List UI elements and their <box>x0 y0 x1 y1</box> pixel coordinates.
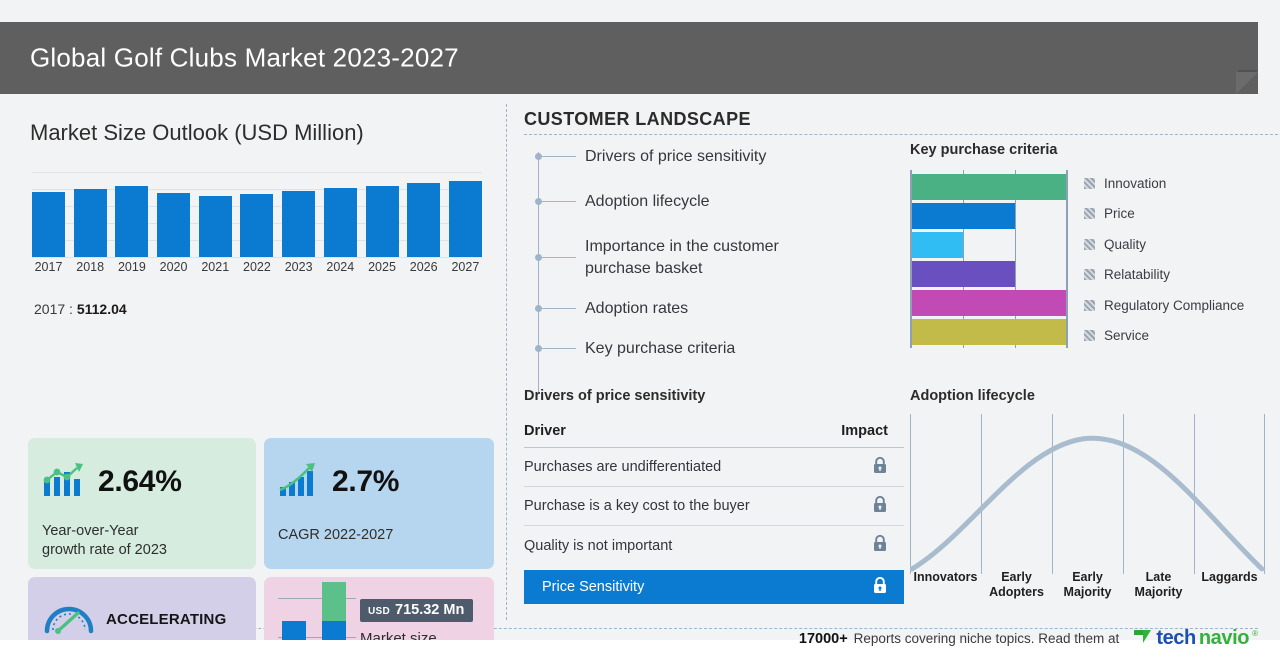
growth-currency: USD <box>368 606 390 617</box>
bar-series <box>32 172 482 257</box>
kpc-plot-area <box>910 170 1068 348</box>
infographic-page: Global Golf Clubs Market 2023-2027 Marke… <box>0 0 1280 670</box>
kpc-legend: InnovationPriceQualityRelatabilityRegula… <box>1084 168 1280 351</box>
adoption-title: Adoption lifecycle <box>910 388 1035 404</box>
market-size-panel: Market Size Outlook (USD Million) 201720… <box>0 94 506 640</box>
hatch-swatch-icon <box>1084 208 1095 219</box>
kpc-legend-label: Relatability <box>1104 267 1170 282</box>
adoption-segment-late-majority: Late Majority <box>1123 570 1194 601</box>
lock-icon <box>872 495 888 518</box>
tree-item-2[interactable]: Importance in the customer purchase bask… <box>538 236 779 279</box>
driver-name: Purchases are undifferentiated <box>524 459 721 475</box>
kpc-legend-item-innovation: Innovation <box>1084 168 1280 199</box>
value-note-year: 2017 : <box>34 301 73 317</box>
kpc-legend-item-price: Price <box>1084 199 1280 230</box>
hatch-swatch-icon <box>1084 330 1095 341</box>
kpc-bar-quality <box>912 232 963 258</box>
kpc-legend-label: Price <box>1104 206 1135 221</box>
bar-chart-x-axis: 2017201820192020202120222023202420252026… <box>32 260 482 274</box>
drivers-table-header: Driver Impact <box>524 423 904 448</box>
kpc-bar-regulatory-compliance <box>912 290 1066 316</box>
technavio-logo[interactable]: tech navio ® <box>1133 627 1258 650</box>
kpi-cagr-top: 2.7% <box>278 460 399 503</box>
bar-2020 <box>157 193 190 257</box>
bar-2017 <box>32 192 65 257</box>
bar-2027 <box>449 181 482 257</box>
kpc-legend-item-regulatory-compliance: Regulatory Compliance <box>1084 290 1280 321</box>
driver-name: Purchase is a key cost to the buyer <box>524 498 750 514</box>
tree-bullet-icon <box>535 198 542 205</box>
tree-connector <box>542 257 576 258</box>
tree-item-label: Adoption lifecycle <box>585 191 710 213</box>
adoption-segment-innovators: Innovators <box>910 570 981 601</box>
key-purchase-criteria-chart: Key purchase criteria InnovationPriceQua… <box>902 142 1280 402</box>
customer-landscape-underline <box>524 134 1278 135</box>
x-label-2027: 2027 <box>449 260 482 274</box>
hatch-swatch-icon <box>1084 300 1095 311</box>
adoption-curve <box>910 414 1265 574</box>
header-bar: Global Golf Clubs Market 2023-2027 <box>0 22 1258 94</box>
tree-bullet-icon <box>535 153 542 160</box>
table-row[interactable]: Quality is not important <box>524 526 904 565</box>
header-fold-corner <box>1236 72 1258 94</box>
cagr-arrow-icon <box>278 460 320 503</box>
kpc-bar-innovation <box>912 174 1066 200</box>
customer-landscape-panel: CUSTOMER LANDSCAPE Drivers of price sens… <box>506 94 1280 640</box>
kpc-legend-label: Regulatory Compliance <box>1104 298 1244 313</box>
x-label-2018: 2018 <box>74 260 107 274</box>
kpi-cagr-value: 2.7% <box>332 465 399 499</box>
bar-2024 <box>324 188 357 257</box>
bar-2022 <box>240 194 273 257</box>
footer-text: Reports covering niche topics. Read them… <box>854 631 1120 646</box>
growth-value: 715.32 Mn <box>395 602 464 618</box>
growth-value-badge: USD 715.32 Mn <box>360 599 473 622</box>
hatch-swatch-icon <box>1084 269 1095 280</box>
col-impact: Impact <box>841 423 888 439</box>
kpc-title: Key purchase criteria <box>910 142 1058 158</box>
value-note-value: 5112.04 <box>77 301 127 317</box>
kpc-legend-label: Quality <box>1104 237 1146 252</box>
page-title: Global Golf Clubs Market 2023-2027 <box>30 43 459 74</box>
lock-icon <box>872 576 888 599</box>
adoption-segment-labels: InnovatorsEarly AdoptersEarly MajorityLa… <box>910 570 1265 601</box>
col-driver: Driver <box>524 423 566 439</box>
x-label-2026: 2026 <box>407 260 440 274</box>
tree-connector <box>542 348 576 349</box>
footer-report-count: 17000+ <box>799 631 848 647</box>
x-label-2019: 2019 <box>115 260 148 274</box>
drivers-title: Drivers of price sensitivity <box>524 388 904 404</box>
x-label-2021: 2021 <box>199 260 232 274</box>
hatch-swatch-icon <box>1084 178 1095 189</box>
kpi-yoy-value: 2.64% <box>98 465 182 499</box>
table-row[interactable]: Purchase is a key cost to the buyer <box>524 487 904 526</box>
x-label-2017: 2017 <box>32 260 65 274</box>
drivers-table: Drivers of price sensitivity Driver Impa… <box>524 388 904 604</box>
table-row[interactable]: Purchases are undifferentiated <box>524 448 904 487</box>
kpi-cagr-label: CAGR 2022-2027 <box>278 526 393 545</box>
momentum-top: ACCELERATING <box>42 599 226 640</box>
bar-2026 <box>407 183 440 257</box>
kpi-yoy-top: 2.64% <box>42 460 182 503</box>
kpc-legend-item-service: Service <box>1084 321 1280 352</box>
table-row-highlight[interactable]: Price Sensitivity <box>524 570 904 604</box>
bar-2021 <box>199 196 232 257</box>
tree-connector <box>542 201 576 202</box>
kpc-bar-price <box>912 203 1015 229</box>
tree-item-1[interactable]: Adoption lifecycle <box>538 191 710 213</box>
driver-name: Quality is not important <box>524 538 672 554</box>
kpi-card-cagr[interactable]: 2.7% CAGR 2022-2027 <box>264 438 494 569</box>
landscape-tree: Drivers of price sensitivityAdoption lif… <box>538 144 918 394</box>
tree-item-label: Key purchase criteria <box>585 338 735 360</box>
tree-bullet-icon <box>535 345 542 352</box>
bar-2018 <box>74 189 107 257</box>
lock-icon <box>872 456 888 479</box>
tree-item-4[interactable]: Key purchase criteria <box>538 338 735 360</box>
adoption-plot-area <box>910 414 1265 574</box>
kpc-bar-service <box>912 319 1066 345</box>
x-label-2025: 2025 <box>366 260 399 274</box>
footer: 17000+ Reports covering niche topics. Re… <box>0 640 1280 670</box>
technavio-mark-icon <box>1133 627 1153 650</box>
bar-2023 <box>282 191 315 257</box>
tree-bullet-icon <box>535 305 542 312</box>
lock-icon <box>872 534 888 557</box>
kpi-yoy-label: Year-over-Year growth rate of 2023 <box>42 522 167 560</box>
kpc-bar-relatability <box>912 261 1015 287</box>
kpc-legend-item-relatability: Relatability <box>1084 260 1280 291</box>
kpc-legend-item-quality: Quality <box>1084 229 1280 260</box>
logo-navio: navio <box>1199 627 1249 650</box>
driver-name: Price Sensitivity <box>542 579 644 595</box>
x-label-2024: 2024 <box>324 260 357 274</box>
x-label-2023: 2023 <box>282 260 315 274</box>
momentum-status: ACCELERATING <box>106 611 226 628</box>
kpc-legend-label: Service <box>1104 328 1149 343</box>
tree-connector <box>542 156 576 157</box>
adoption-segment-early-adopters: Early Adopters <box>981 570 1052 601</box>
market-size-bar-chart <box>32 172 482 257</box>
adoption-segment-laggards: Laggards <box>1194 570 1265 601</box>
tree-item-label: Drivers of price sensitivity <box>585 146 766 168</box>
customer-landscape-title: CUSTOMER LANDSCAPE <box>524 109 751 130</box>
tree-connector <box>542 308 576 309</box>
logo-trademark: ® <box>1252 629 1258 638</box>
x-label-2020: 2020 <box>157 260 190 274</box>
x-label-2022: 2022 <box>240 260 273 274</box>
bar-2019 <box>115 186 148 257</box>
growth-chart-icon <box>42 460 86 503</box>
tree-item-0[interactable]: Drivers of price sensitivity <box>538 146 766 168</box>
adoption-segment-early-majority: Early Majority <box>1052 570 1123 601</box>
footer-content: 17000+ Reports covering niche topics. Re… <box>799 627 1258 650</box>
bar-2025 <box>366 186 399 257</box>
kpi-card-yoy[interactable]: 2.64% Year-over-Year growth rate of 2023 <box>28 438 256 569</box>
market-size-value-note: 2017 : 5112.04 <box>34 301 127 317</box>
hatch-swatch-icon <box>1084 239 1095 250</box>
logo-tech: tech <box>1156 627 1196 650</box>
tree-item-3[interactable]: Adoption rates <box>538 298 688 320</box>
tree-item-label: Adoption rates <box>585 298 688 320</box>
adoption-lifecycle-chart: Adoption lifecycle InnovatorsEarly Adopt… <box>902 388 1280 618</box>
tree-item-label: Importance in the customer purchase bask… <box>585 236 779 279</box>
kpc-legend-label: Innovation <box>1104 176 1166 191</box>
tree-bullet-icon <box>535 254 542 261</box>
market-size-title: Market Size Outlook (USD Million) <box>30 120 364 146</box>
speedometer-icon <box>42 599 96 640</box>
